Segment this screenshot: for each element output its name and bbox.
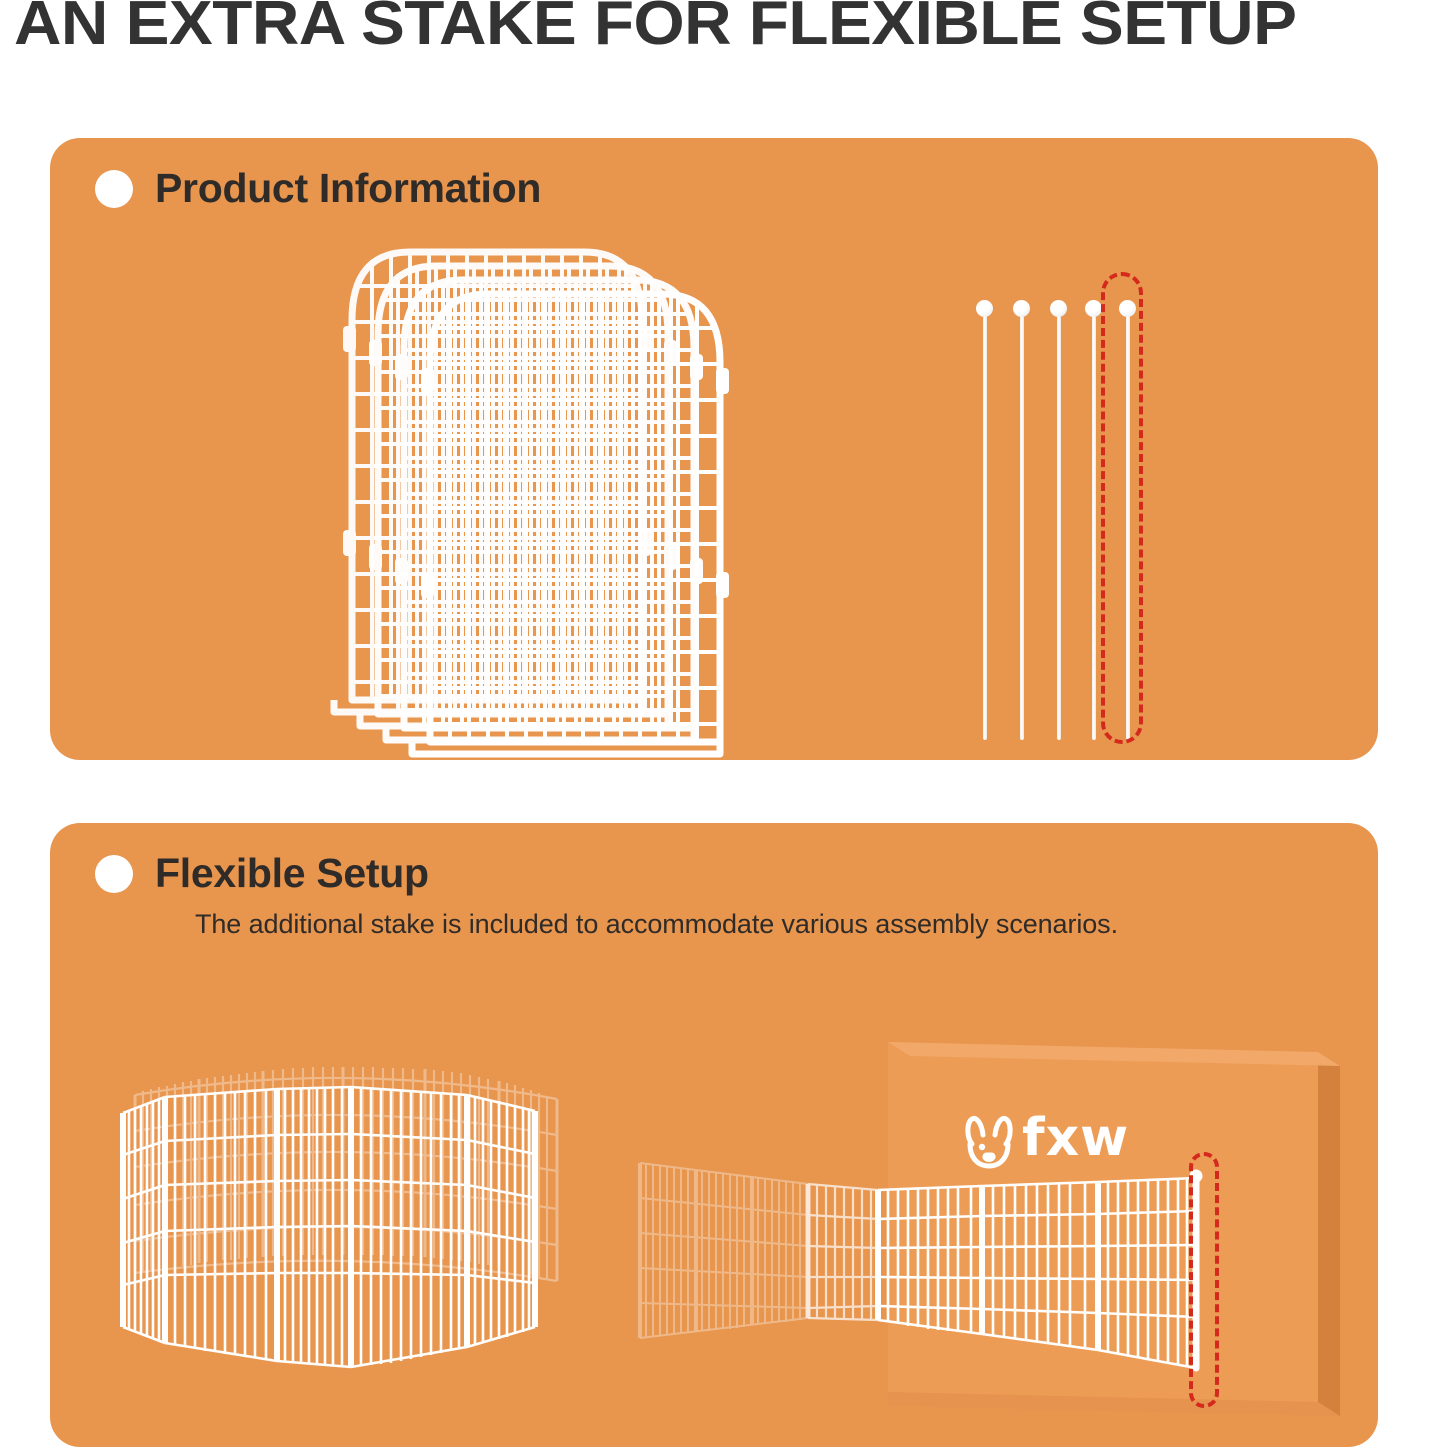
card-title-product-information: Product Information [155, 168, 541, 209]
stake-ball-top-icon [1013, 300, 1030, 317]
page-title: AN EXTRA STAKE FOR FLEXIBLE SETUP [14, 0, 1432, 58]
wall-fence-panels-svg [630, 1020, 1350, 1440]
card-header-product-information: Product Information [95, 168, 541, 209]
stake-ball-top-icon [976, 300, 993, 317]
stake-ball-top-icon [1050, 300, 1067, 317]
panel-stack-svg [330, 230, 750, 750]
stake-shaft [983, 316, 987, 740]
stacked-fence-panels-illustration [330, 230, 730, 730]
card-header-flexible-setup: Flexible Setup [95, 853, 429, 894]
wall-stake-highlight-ring [1189, 1152, 1219, 1408]
stake-4 [1091, 300, 1097, 740]
card-subtitle-flexible-setup: The additional stake is included to acco… [195, 909, 1118, 940]
octagon-pen-illustration [95, 1055, 595, 1435]
stake-ball-top-icon [1085, 300, 1102, 317]
stake-set-illustration [950, 270, 1180, 750]
stake-3 [1056, 300, 1062, 740]
octagon-pen-svg [95, 1055, 595, 1435]
extra-stake-highlight-ring [1101, 272, 1143, 744]
card-product-information: Product Information [50, 138, 1378, 760]
circle-bullet-icon [95, 855, 133, 893]
stake-shaft [1057, 316, 1061, 740]
stake-1 [982, 300, 988, 740]
card-title-flexible-setup: Flexible Setup [155, 853, 429, 894]
stake-shaft [1020, 316, 1024, 740]
wall-mounted-configuration-illustration: fxw [630, 1020, 1350, 1440]
stake-shaft [1092, 316, 1096, 740]
stake-2 [1019, 300, 1025, 740]
circle-bullet-icon [95, 170, 133, 208]
